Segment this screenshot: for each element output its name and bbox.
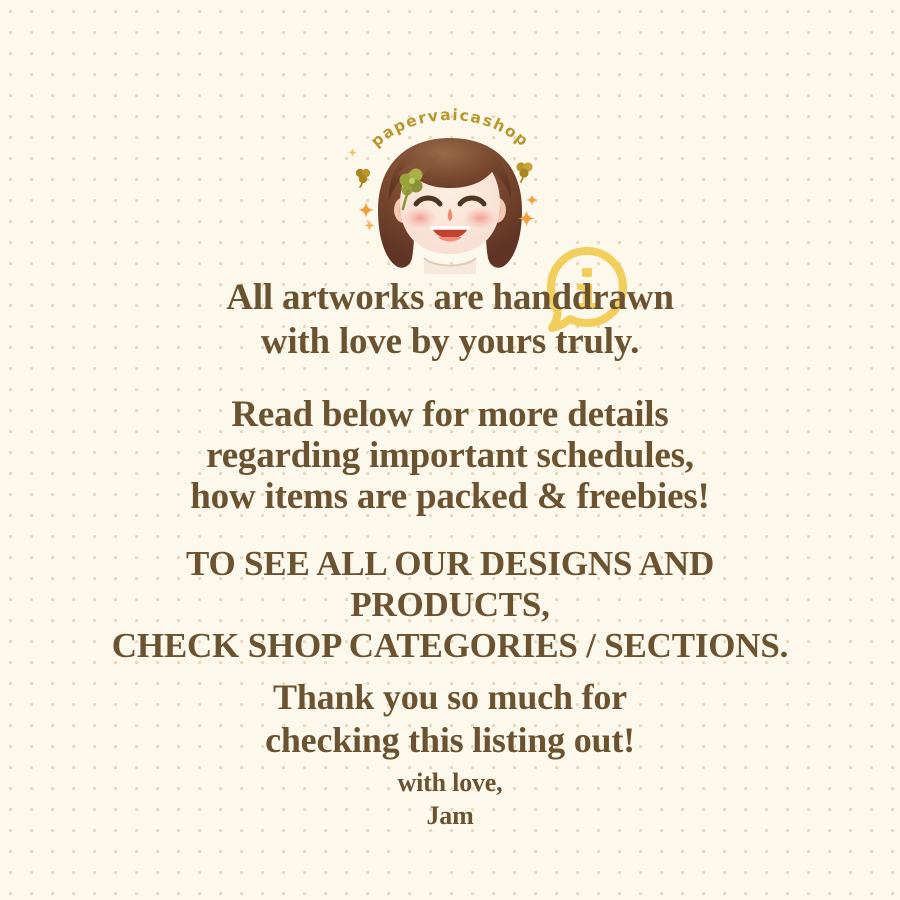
text-line: Read below for more details bbox=[0, 394, 900, 435]
signoff-line: with love, bbox=[0, 766, 900, 799]
signoff: with love, Jam bbox=[0, 766, 900, 832]
text-line: Thank you so much for bbox=[0, 676, 900, 719]
avatar bbox=[358, 134, 542, 274]
signoff-name: Jam bbox=[0, 799, 900, 832]
header-logo-area: papervaicashop bbox=[0, 112, 900, 282]
collar bbox=[424, 258, 476, 274]
paragraph-thank-you: Thank you so much for checking this list… bbox=[0, 676, 900, 762]
info-card: papervaicashop bbox=[0, 0, 900, 900]
paragraph-read-below: Read below for more details regarding im… bbox=[0, 394, 900, 517]
text-line: TO SEE ALL OUR DESIGNS AND bbox=[0, 543, 900, 584]
message-body: All artworks are handdrawn with love by … bbox=[0, 276, 900, 832]
text-line: checking this listing out! bbox=[0, 719, 900, 762]
shop-logo: papervaicashop bbox=[340, 112, 560, 282]
text-line: All artworks are handdrawn bbox=[0, 276, 900, 320]
text-line: regarding important schedules, bbox=[0, 435, 900, 476]
text-line: with love by yours truly. bbox=[0, 320, 900, 364]
text-line: CHECK SHOP CATEGORIES / SECTIONS. bbox=[0, 625, 900, 666]
paragraph-see-designs: TO SEE ALL OUR DESIGNS AND PRODUCTS, CHE… bbox=[0, 543, 900, 666]
text-line: how items are packed & freebies! bbox=[0, 476, 900, 517]
paragraph-handdrawn: All artworks are handdrawn with love by … bbox=[0, 276, 900, 364]
text-line: PRODUCTS, bbox=[0, 584, 900, 625]
